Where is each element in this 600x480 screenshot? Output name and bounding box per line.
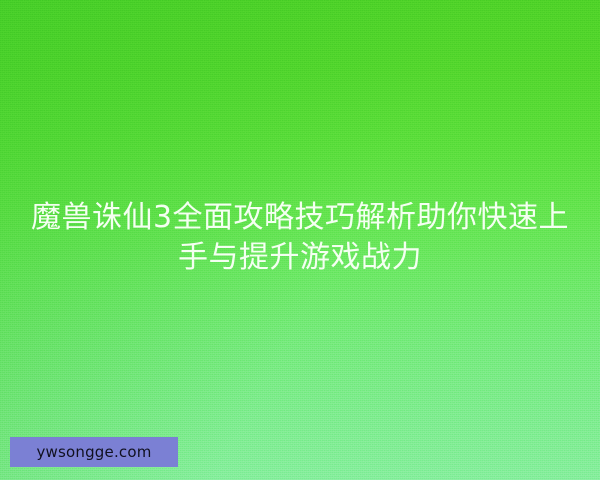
watermark-badge: ywsongge.com [10,437,178,467]
watermark-domain-label: ywsongge.com [36,445,151,460]
cover-image-card: 魔兽诛仙3全面攻略技巧解析助你快速上手与提升游戏战力 ywsongge.com [0,0,600,480]
page-title: 魔兽诛仙3全面攻略技巧解析助你快速上手与提升游戏战力 [30,198,570,278]
title-block: 魔兽诛仙3全面攻略技巧解析助你快速上手与提升游戏战力 [30,198,570,278]
